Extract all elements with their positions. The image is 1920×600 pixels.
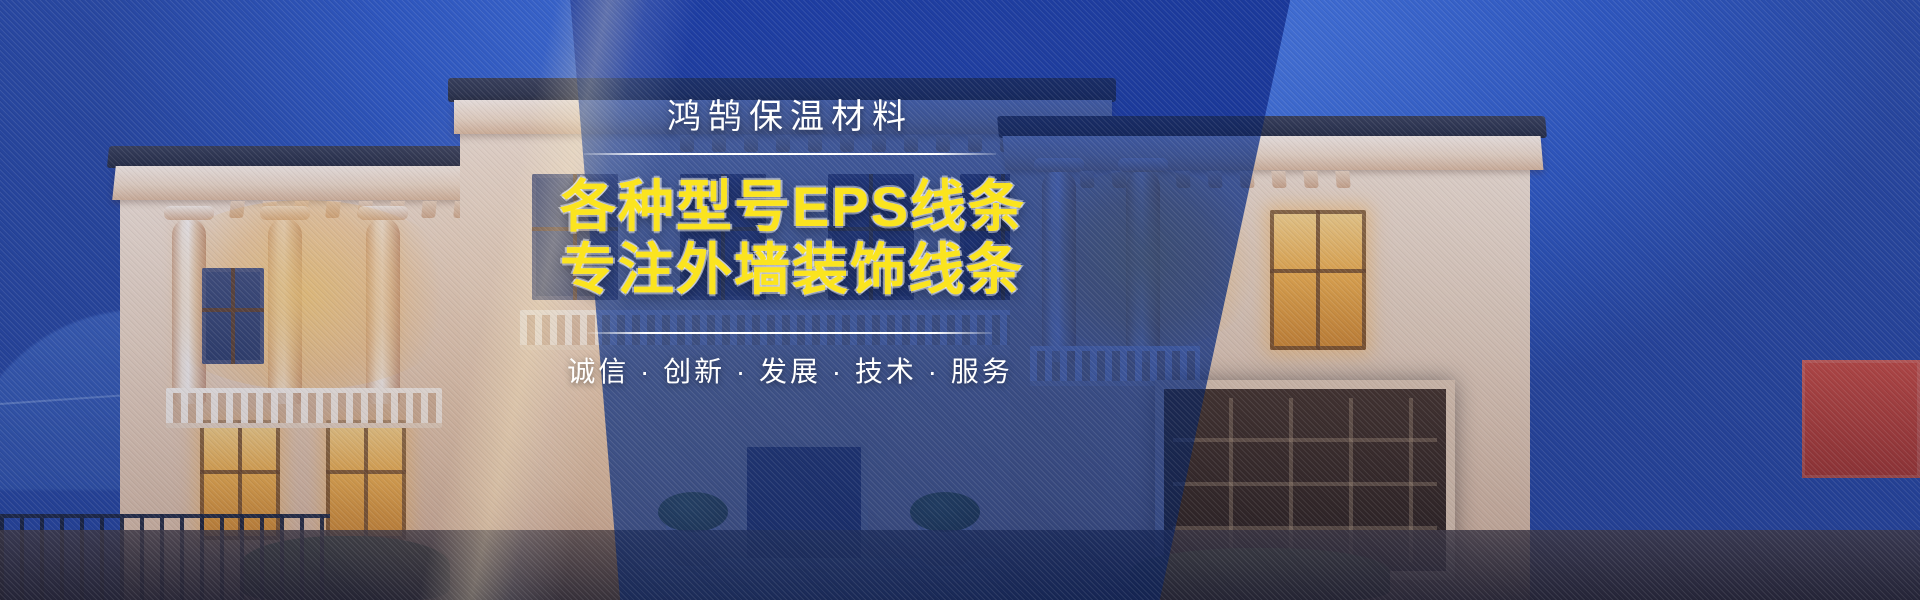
tagline: 诚信 · 创新 · 发展 · 技术 · 服务 xyxy=(560,350,1020,390)
brand-name: 鸿鹄保温材料 xyxy=(560,96,1020,139)
headline-line-1: 各种型号EPS线条 xyxy=(560,175,1020,239)
divider-bottom-icon xyxy=(588,332,992,334)
promo-banner: 鸿鹄保温材料 各种型号EPS线条 专注外墙装饰线条 诚信 · 创新 · 发展 ·… xyxy=(0,0,1920,600)
headline-line-2: 专注外墙装饰线条 xyxy=(560,238,1020,302)
tagline-block: 诚信 · 创新 · 发展 · 技术 · 服务 xyxy=(560,332,1020,390)
headline: 各种型号EPS线条 专注外墙装饰线条 xyxy=(560,175,1020,303)
divider-top-icon xyxy=(584,153,996,155)
banner-text-block: 鸿鹄保温材料 各种型号EPS线条 专注外墙装饰线条 诚信 · 创新 · 发展 ·… xyxy=(560,96,1020,390)
